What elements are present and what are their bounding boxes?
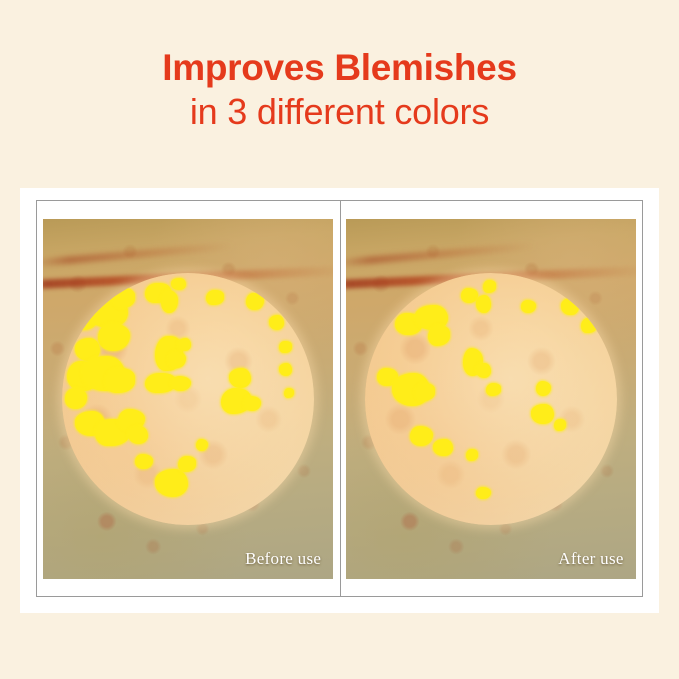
blemish-spot: [178, 456, 196, 471]
blemish-spot: [171, 278, 186, 291]
blemish-spot: [531, 404, 554, 424]
after-photo: After use: [346, 219, 636, 579]
headline-line-1: Improves Blemishes: [0, 47, 679, 89]
before-panel: Before use: [37, 201, 340, 596]
blemish-spot: [105, 368, 135, 393]
before-photo: Before use: [43, 219, 333, 579]
blemish-spot: [269, 315, 284, 330]
scan-circle-after: [365, 273, 617, 525]
comparison-frame: Before use After use: [36, 200, 643, 597]
blemish-spot: [155, 469, 188, 497]
blemish-spot: [244, 396, 262, 411]
blemish-spot: [476, 295, 491, 313]
blemish-spot: [279, 341, 292, 354]
page-title: Improves Blemishes in 3 different colors: [0, 47, 679, 132]
blemish-spot: [128, 426, 148, 444]
blemish-spot: [229, 368, 252, 388]
blemish-spot: [483, 280, 496, 293]
blemish-spot: [415, 383, 435, 401]
blemish-spot: [178, 338, 191, 351]
blemish-spot: [476, 487, 491, 500]
blemish-spot: [433, 439, 453, 457]
blemish-spot: [476, 363, 491, 378]
blemish-spot: [206, 290, 224, 305]
blemish-spot: [284, 388, 294, 398]
blemish-spot: [196, 439, 209, 452]
before-caption: Before use: [245, 549, 321, 569]
blemish-spot: [554, 419, 567, 432]
blemish-spot: [246, 293, 264, 311]
headline-line-2: in 3 different colors: [0, 92, 679, 133]
blemish-spot: [428, 325, 451, 345]
scan-circle-before: [62, 273, 314, 525]
blemish-spot: [135, 454, 153, 469]
comparison-card: Before use After use: [20, 188, 659, 613]
after-panel: After use: [340, 201, 643, 596]
after-caption: After use: [558, 549, 623, 569]
blemish-spot: [561, 298, 579, 316]
